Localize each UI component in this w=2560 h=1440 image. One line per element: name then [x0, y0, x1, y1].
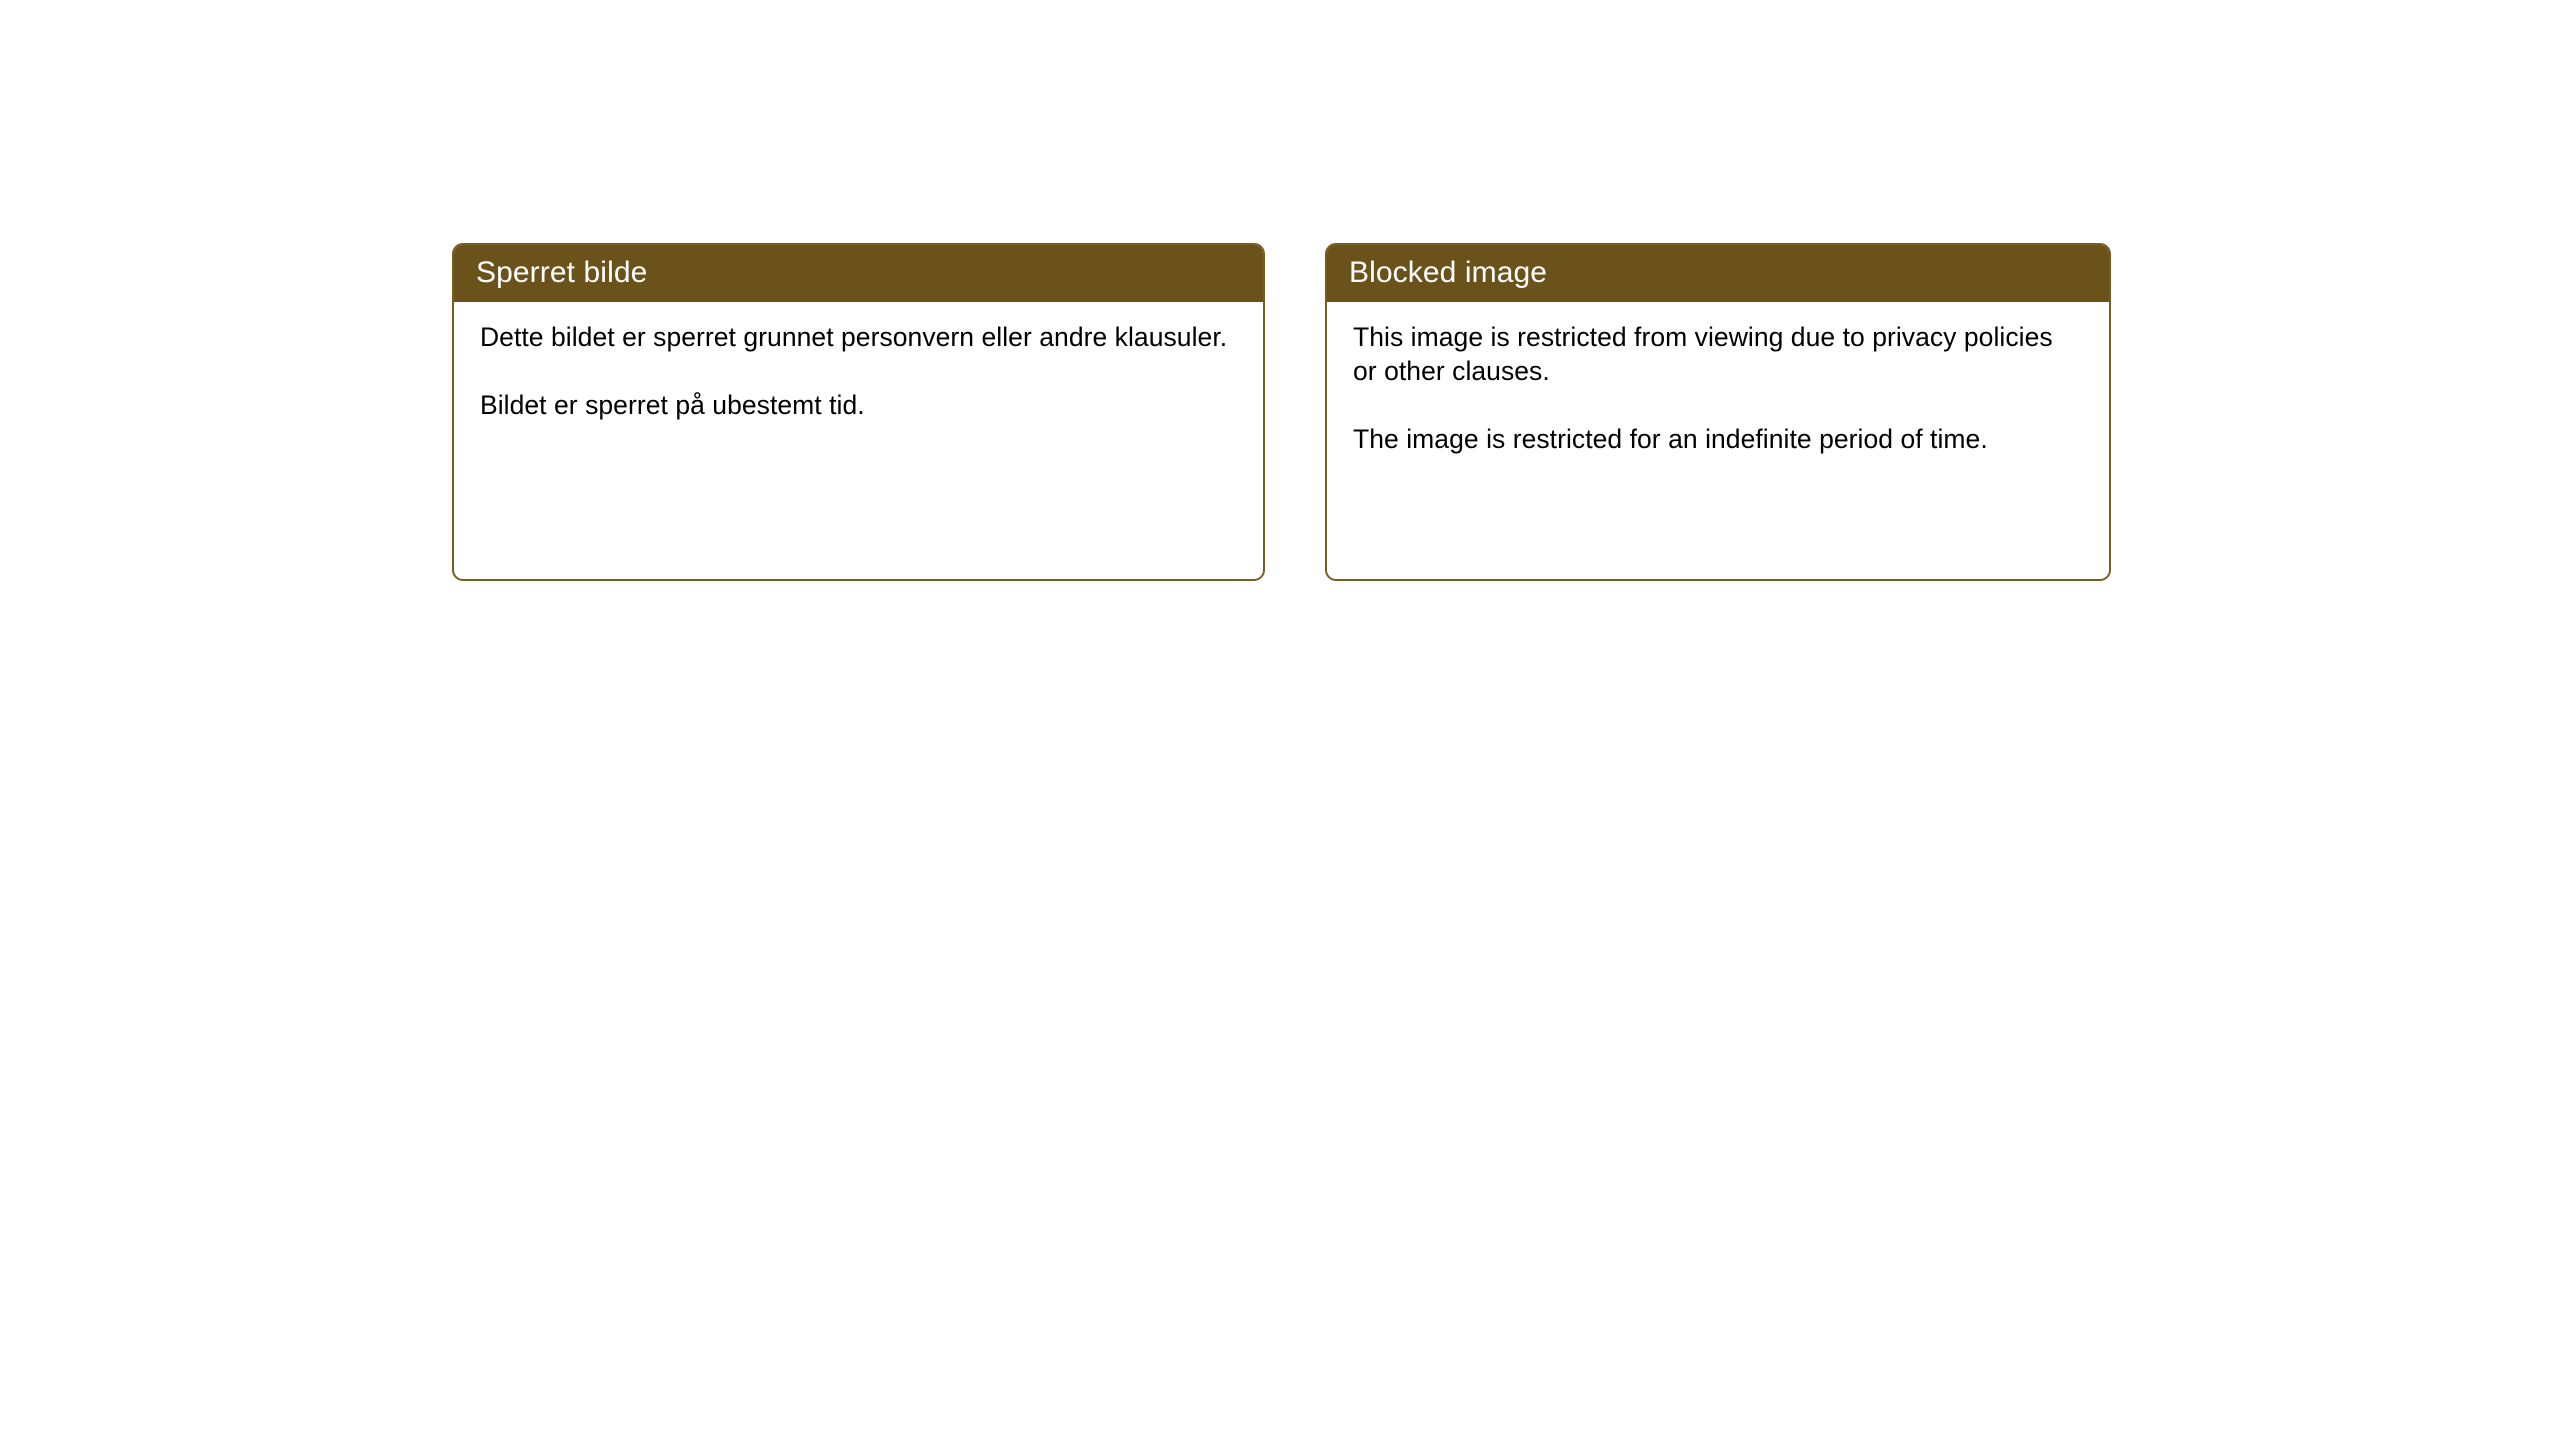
page-canvas: Sperret bilde Dette bildet er sperret gr… [0, 0, 2560, 1440]
blocked-image-notice-card-english: Blocked image This image is restricted f… [1325, 243, 2111, 581]
blocked-image-notice-card-norwegian: Sperret bilde Dette bildet er sperret gr… [452, 243, 1265, 581]
card-paragraph-primary-english: This image is restricted from viewing du… [1353, 320, 2083, 388]
card-title-norwegian: Sperret bilde [476, 258, 647, 288]
card-body-english: This image is restricted from viewing du… [1327, 302, 2109, 456]
card-paragraph-secondary-norwegian: Bildet er sperret på ubestemt tid. [480, 388, 1237, 422]
card-paragraph-secondary-english: The image is restricted for an indefinit… [1353, 422, 2083, 456]
card-body-norwegian: Dette bildet er sperret grunnet personve… [454, 302, 1263, 422]
card-title-english: Blocked image [1349, 258, 1547, 288]
card-paragraph-primary-norwegian: Dette bildet er sperret grunnet personve… [480, 320, 1237, 354]
card-header-norwegian: Sperret bilde [452, 243, 1265, 302]
card-header-english: Blocked image [1325, 243, 2111, 302]
